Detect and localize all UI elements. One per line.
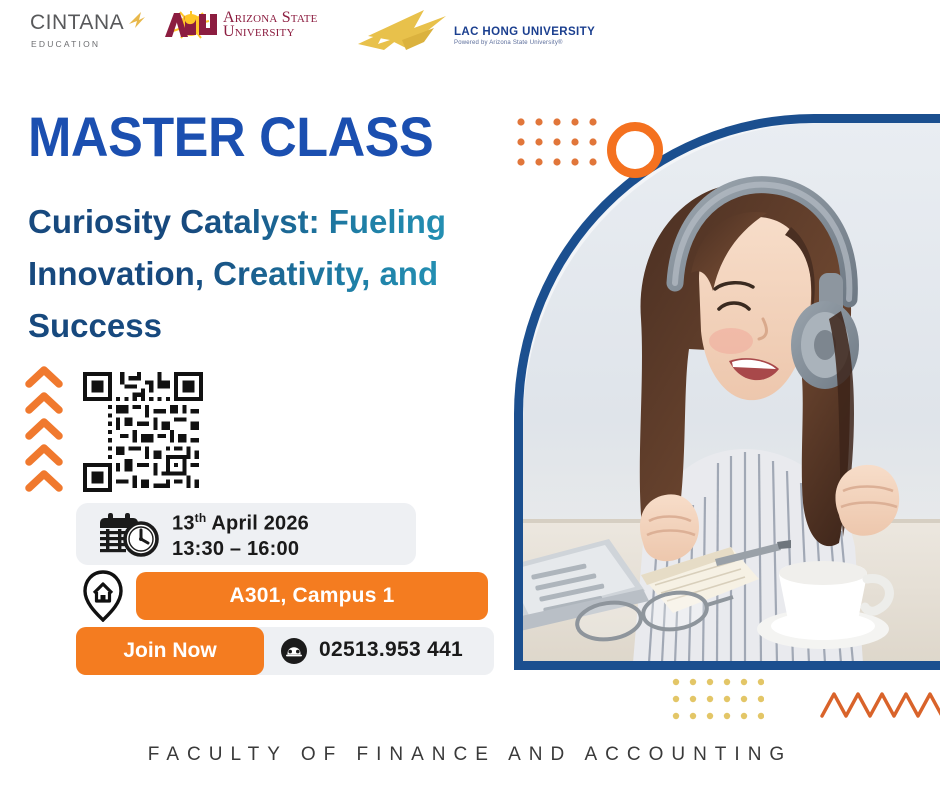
asu-sunburst-icon bbox=[163, 11, 219, 39]
venue-row: A301, Campus 1 bbox=[76, 571, 506, 621]
logo-lac-hong-university: LAC HONG UNIVERSITY Powered by Arizona S… bbox=[350, 6, 595, 65]
join-now-button[interactable]: Join Now bbox=[76, 627, 264, 675]
page-title: MASTER CLASS bbox=[28, 108, 433, 166]
logo-arizona-state-university: Arizona State University bbox=[163, 11, 318, 39]
hero-photo-frame bbox=[514, 114, 940, 670]
telephone-icon bbox=[281, 638, 307, 664]
calendar-clock-icon bbox=[98, 511, 160, 557]
join-contact-row: Join Now 02513.953 441 bbox=[76, 627, 494, 675]
decor-zigzag-orange bbox=[820, 688, 940, 727]
date-time-box: 13th April 2026 13:30 – 16:00 bbox=[76, 503, 416, 565]
decor-dots-gold bbox=[672, 678, 764, 731]
qr-code[interactable] bbox=[83, 372, 203, 492]
decor-dots-orange bbox=[517, 118, 609, 181]
bird-swoosh-icon bbox=[125, 10, 147, 37]
cintana-subtitle: EDUCATION bbox=[31, 39, 100, 49]
event-time: 13:30 – 16:00 bbox=[172, 537, 309, 562]
lac-hong-line2: Powered by Arizona State University® bbox=[454, 40, 595, 46]
lac-hong-arrow-icon bbox=[350, 6, 460, 65]
lac-hong-line1: LAC HONG UNIVERSITY bbox=[454, 26, 595, 38]
decor-chevrons-up bbox=[24, 366, 64, 496]
location-pin-home-icon bbox=[82, 570, 124, 622]
logo-bar: CINTANA EDUCATION bbox=[0, 0, 940, 62]
logo-cintana-education: CINTANA EDUCATION bbox=[30, 12, 147, 49]
hero-photo bbox=[523, 123, 940, 661]
join-now-label: Join Now bbox=[123, 639, 216, 663]
footer-text: FACULTY OF FINANCE AND ACCOUNTING bbox=[0, 744, 940, 766]
event-date: 13th April 2026 bbox=[172, 506, 309, 537]
asu-line2: University bbox=[223, 25, 318, 39]
venue-pill[interactable]: A301, Campus 1 bbox=[136, 572, 488, 620]
venue-label: A301, Campus 1 bbox=[229, 584, 394, 608]
poster-root: CINTANA EDUCATION bbox=[0, 0, 940, 788]
decor-ring-orange bbox=[607, 122, 663, 178]
event-details: 13th April 2026 13:30 – 16:00 A301, Camp… bbox=[76, 503, 506, 675]
phone-number[interactable]: 02513.953 441 bbox=[319, 638, 463, 662]
page-subtitle: Curiosity Catalyst: Fueling Innovation, … bbox=[28, 196, 548, 352]
cintana-wordmark: CINTANA bbox=[30, 12, 124, 34]
